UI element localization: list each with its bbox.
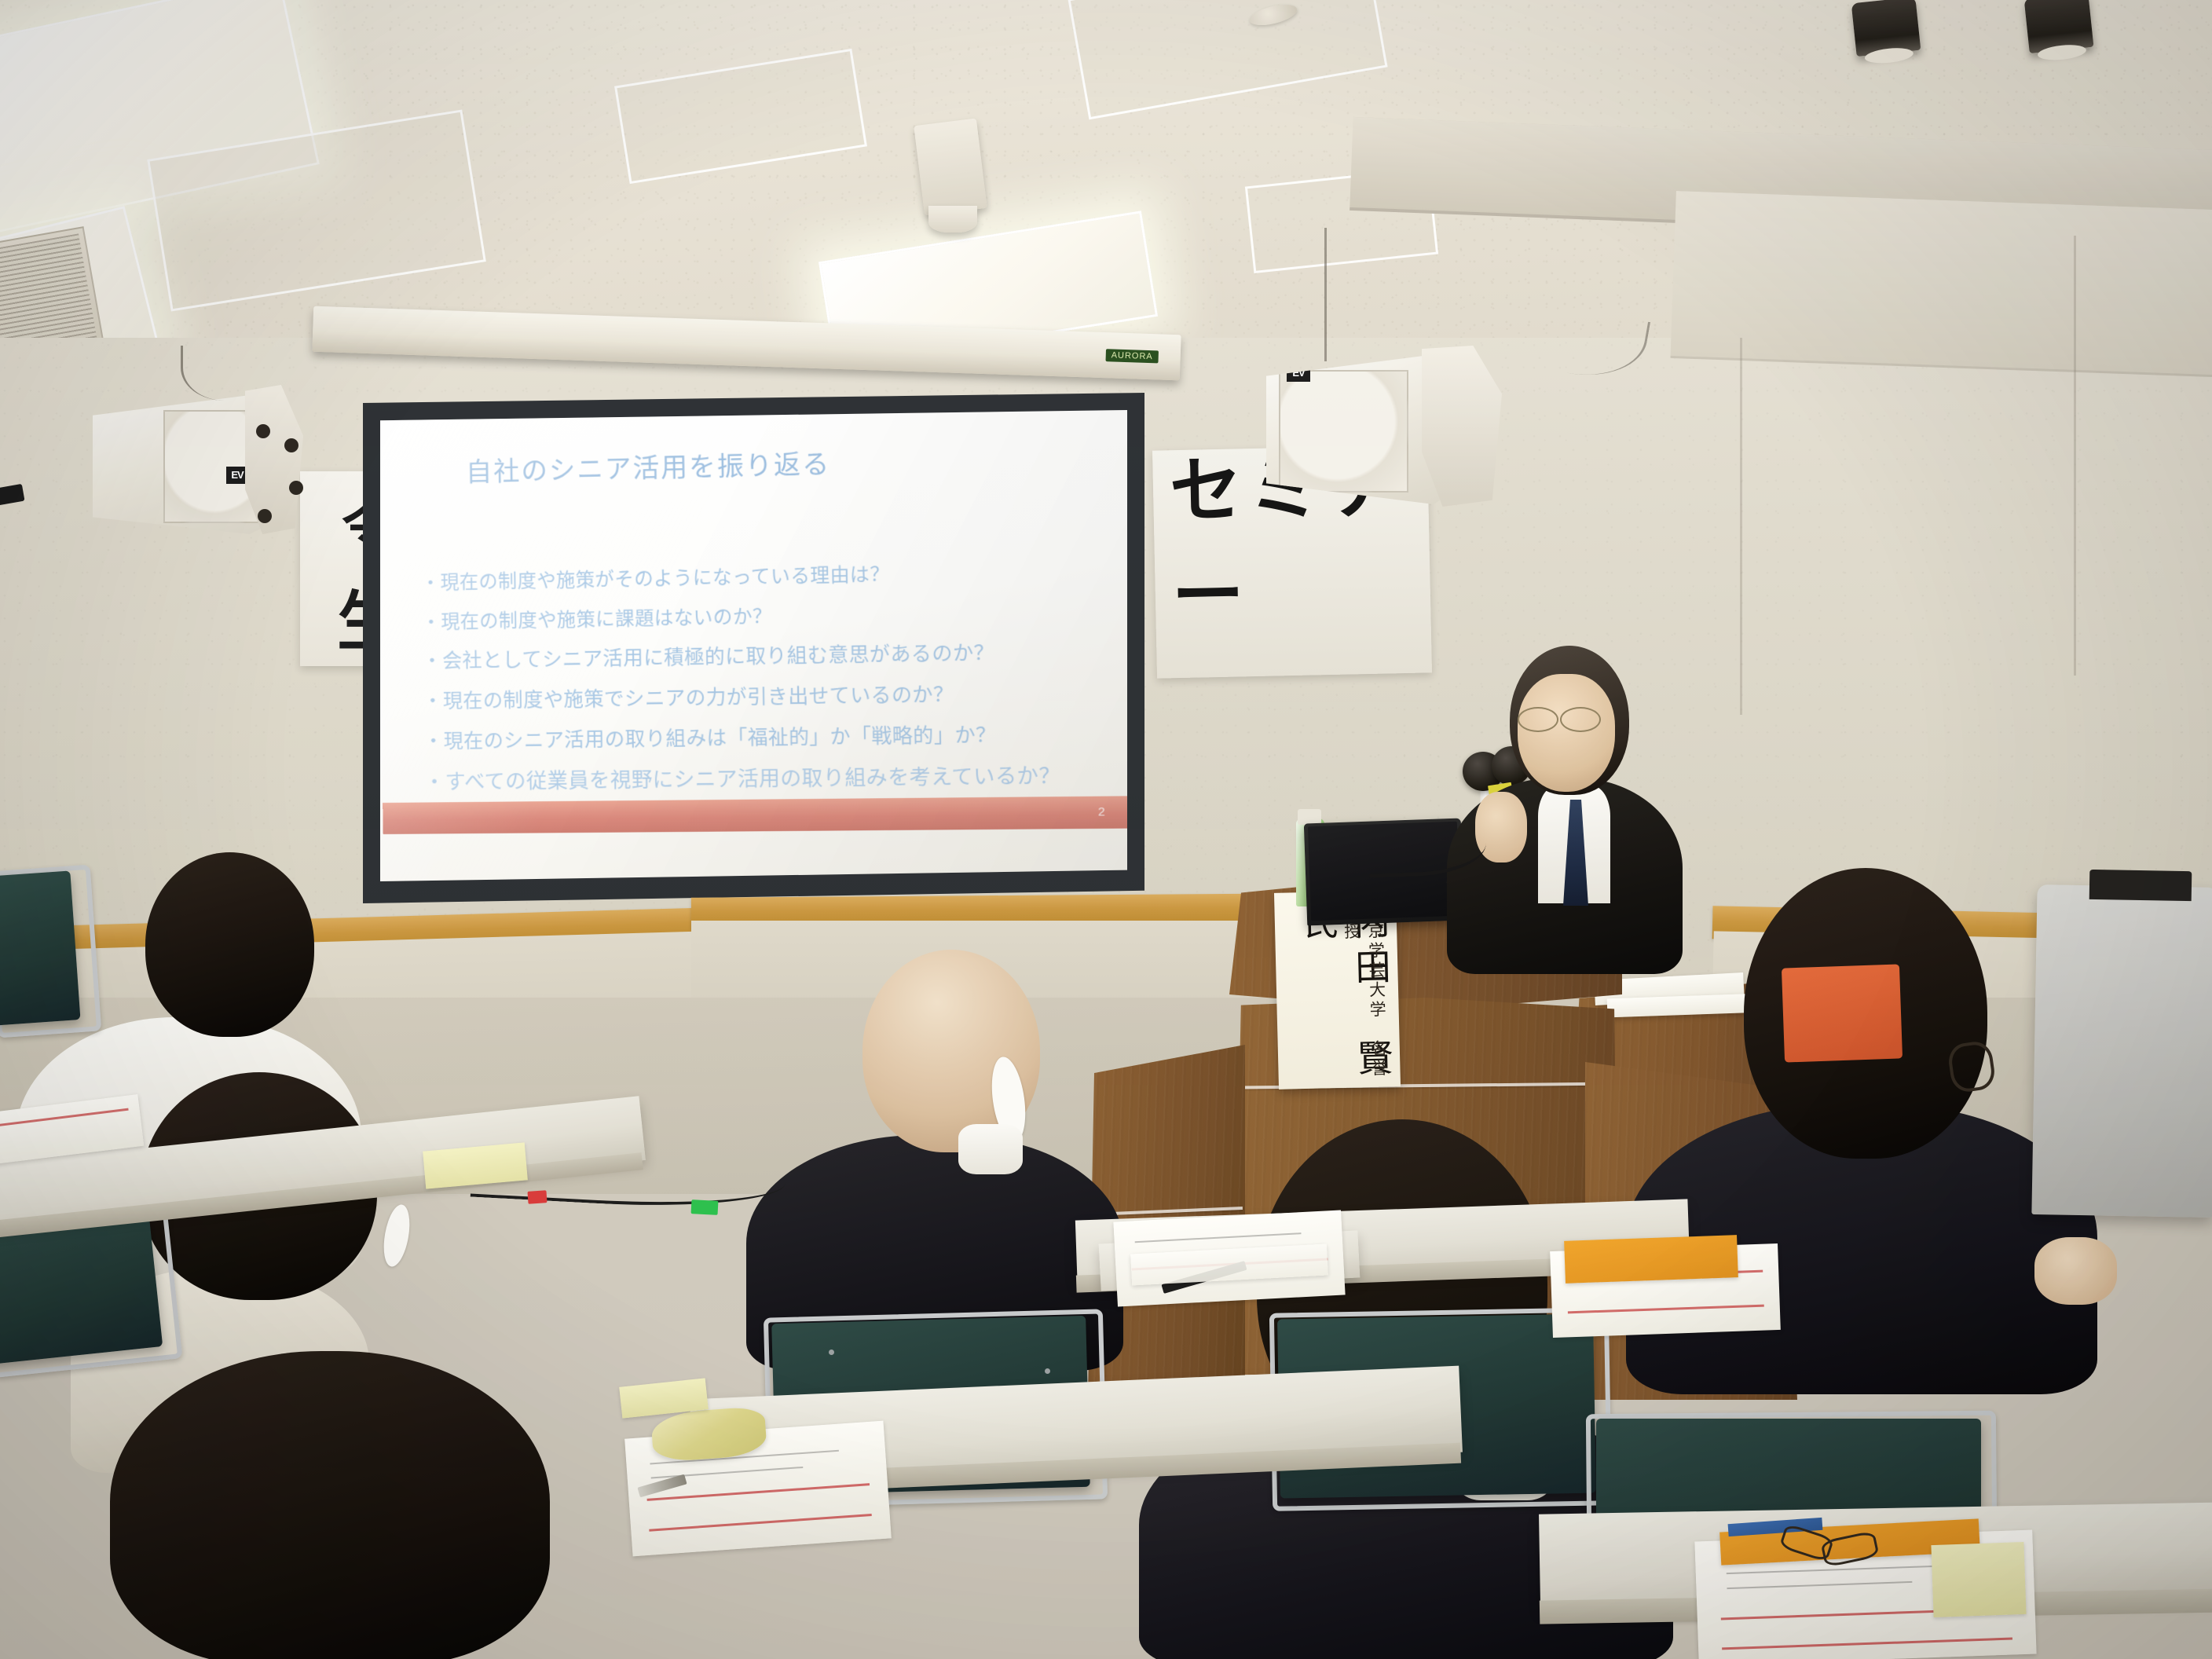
projection-screen-surface: 自社のシニア活用を振り返る ・現在の制度や施策がそのようになっている理由は？ ・… (380, 410, 1127, 881)
ceiling-spotlight (2024, 0, 2094, 53)
ceiling-spotlight (1851, 0, 1921, 57)
paper-text-line (1135, 1232, 1302, 1243)
projector-lens (928, 206, 977, 233)
slide-bullet-list: ・現在の制度や施策がそのようになっている理由は？ ・現在の制度や施策に課題はない… (421, 554, 1121, 807)
wall-soffit (1670, 191, 2212, 377)
audience-head (145, 852, 314, 1037)
audience-head (110, 1351, 550, 1659)
pa-bracket-bolt (284, 438, 298, 452)
paper-accent-line (0, 1108, 129, 1126)
cable-connector (691, 1199, 719, 1215)
seminar-room-photo: 令 生 セミナー EV EV AURORA 自社のシニア活用を振り返る ・現在の… (0, 0, 2212, 1659)
slide-content: 自社のシニア活用を振り返る ・現在の制度や施策がそのようになっている理由は？ ・… (380, 410, 1127, 881)
audience-hand (2034, 1237, 2117, 1305)
partition-tab (2089, 870, 2192, 901)
paper-text-line (1727, 1581, 1912, 1589)
slide-bullet: ・現在の制度や施策でシニアの力が引き出せているのか？ (423, 676, 1119, 714)
slide-bullet: ・現在の制度や施策に課題はないのか？ (421, 595, 1118, 634)
projection-screen-frame: 自社のシニア活用を振り返る ・現在の制度や施策がそのようになっている理由は？ ・… (363, 393, 1144, 903)
chair-backrest[interactable] (0, 870, 80, 1025)
desk-partition-panel (2031, 884, 2212, 1218)
pa-bracket-bolt (256, 424, 270, 438)
pa-speaker-grille (1279, 370, 1408, 493)
paper-accent-line (1722, 1637, 2012, 1650)
pa-speaker-brand-logo: EV (226, 467, 248, 484)
chair-stud (1045, 1368, 1050, 1374)
audience-member (86, 1351, 605, 1659)
cable-connector (527, 1190, 547, 1204)
slide-bullet: ・現在のシニア活用の取り組みは「福祉的」か「戦略的」か？ (423, 717, 1120, 754)
face-mask-strap (379, 1203, 413, 1269)
wall-cable (1324, 228, 1347, 361)
chair-stud (829, 1350, 834, 1355)
pa-bracket-bolt (289, 481, 303, 495)
paper-accent-line (1568, 1305, 1763, 1314)
wall-corner-edge (1740, 338, 1742, 715)
glasses-icon (1560, 707, 1601, 732)
projector-icon (914, 119, 987, 216)
audience-member (746, 939, 1155, 1363)
nameplate-affiliation: 東京学芸大学 名誉教授 (1339, 902, 1391, 1087)
wall-corner-edge (2074, 236, 2076, 676)
chair-orange[interactable] (1782, 964, 1903, 1062)
booklet (1564, 1235, 1738, 1284)
paper-accent-line (649, 1514, 871, 1532)
screen-brand-badge: AURORA (1105, 349, 1159, 363)
note-paper (1931, 1542, 2026, 1617)
slide-title: 自社のシニア活用を振り返る (466, 442, 831, 489)
audience-shirt-collar (958, 1124, 1023, 1174)
glasses-icon (1518, 707, 1558, 732)
slide-accent-band (383, 796, 1127, 834)
slide-bullet: ・会社としてシニア活用に積極的に取り組む意思があるのか？ (422, 635, 1119, 674)
slide-bullet: ・すべての従業員を視野にシニア活用の取り組みを考えているか？ (424, 759, 1121, 795)
pa-bracket-bolt (258, 509, 272, 523)
slide-page-number: 2 (1098, 797, 1106, 829)
presenter-face (1518, 674, 1615, 792)
slide-bullet: ・現在の制度や施策がそのようになっている理由は？ (421, 554, 1118, 595)
